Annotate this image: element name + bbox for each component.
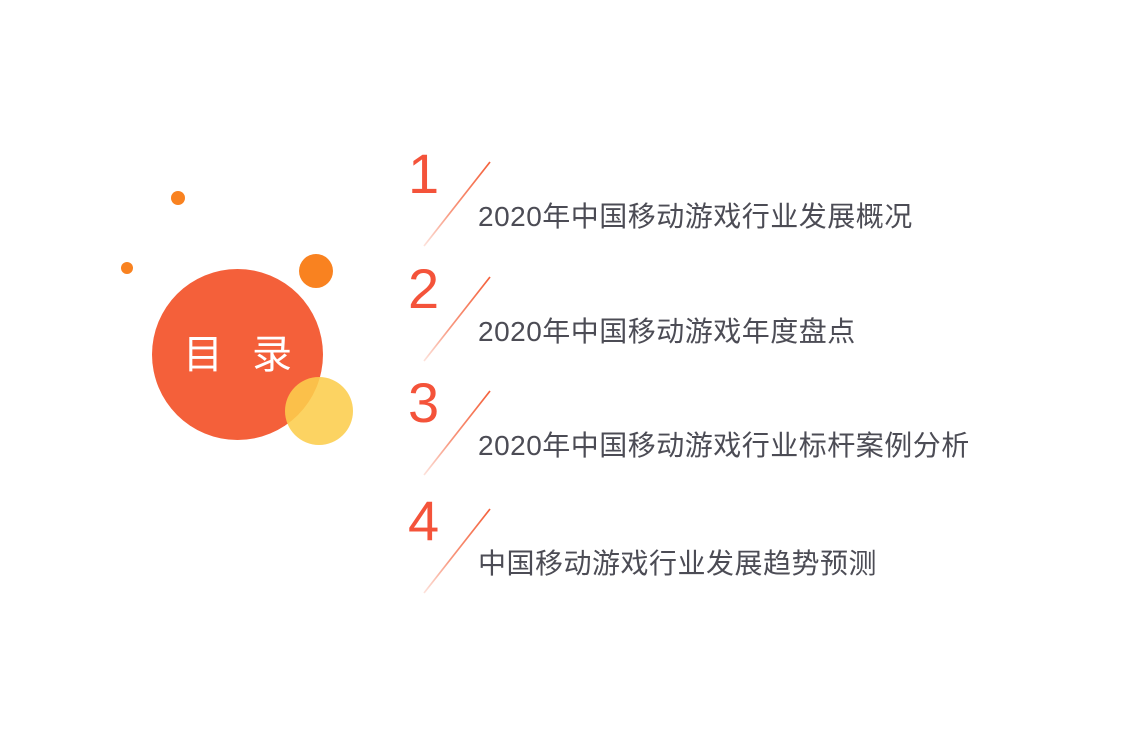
toc-entry-1[interactable]: 1 2020年中国移动游戏行业发展概况 [400, 146, 1100, 261]
small-dot-upper-icon [171, 191, 185, 205]
decorative-graphic-cluster: 目 录 [0, 0, 420, 737]
accent-circle-yellow-icon [285, 377, 353, 445]
contents-badge-label: 目 录 [174, 335, 301, 375]
toc-entry-4[interactable]: 4 中国移动游戏行业发展趋势预测 [400, 493, 1100, 603]
toc-title-2: 2020年中国移动游戏年度盘点 [478, 313, 856, 351]
toc-number-1: 1 [408, 146, 439, 202]
toc-title-3: 2020年中国移动游戏行业标杆案例分析 [478, 427, 970, 465]
toc-number-4: 4 [408, 493, 439, 549]
accent-circle-orange-icon [299, 254, 333, 288]
toc-title-1: 2020年中国移动游戏行业发展概况 [478, 198, 913, 236]
toc-number-2: 2 [408, 261, 439, 317]
toc-entry-3[interactable]: 3 2020年中国移动游戏行业标杆案例分析 [400, 375, 1100, 493]
slide-canvas: 目 录 1 2020年中国移动游戏行业发展概况 2 [0, 0, 1134, 737]
table-of-contents: 1 2020年中国移动游戏行业发展概况 2 [400, 146, 1100, 603]
toc-title-4: 中国移动游戏行业发展趋势预测 [478, 545, 877, 583]
toc-entry-2[interactable]: 2 2020年中国移动游戏年度盘点 [400, 261, 1100, 375]
small-dot-left-icon [121, 262, 133, 274]
toc-number-3: 3 [408, 375, 439, 431]
